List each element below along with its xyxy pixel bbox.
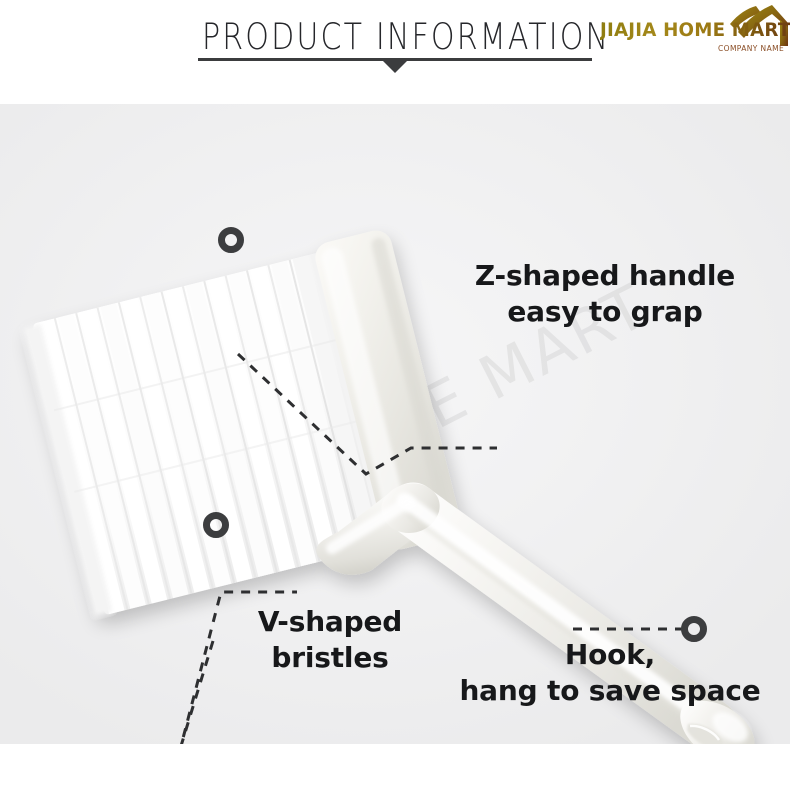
caret-down-icon: [383, 61, 407, 73]
callout-label-z-shaped-handle: Z-shaped handle easy to grap: [445, 258, 765, 331]
brand-logo: JIAJIA HOME MART COMPANY NAME: [600, 2, 790, 60]
page-header: PRODUCT INFORMATION: [0, 0, 790, 104]
page-footer: [0, 744, 790, 790]
logo-subtext: COMPANY NAME: [718, 44, 784, 53]
logo-wordmark: JIAJIA HOME MART: [600, 19, 790, 41]
product-image-stage: JIAJIA HOME MART: [0, 104, 790, 744]
page-title: PRODUCT INFORMATION: [202, 16, 590, 58]
callout-label-v-shaped-bristles: V-shaped bristles: [195, 604, 465, 677]
callout-label-hook: Hook, hang to save space: [440, 637, 780, 710]
product-information-page: PRODUCT INFORMATION: [0, 0, 790, 790]
